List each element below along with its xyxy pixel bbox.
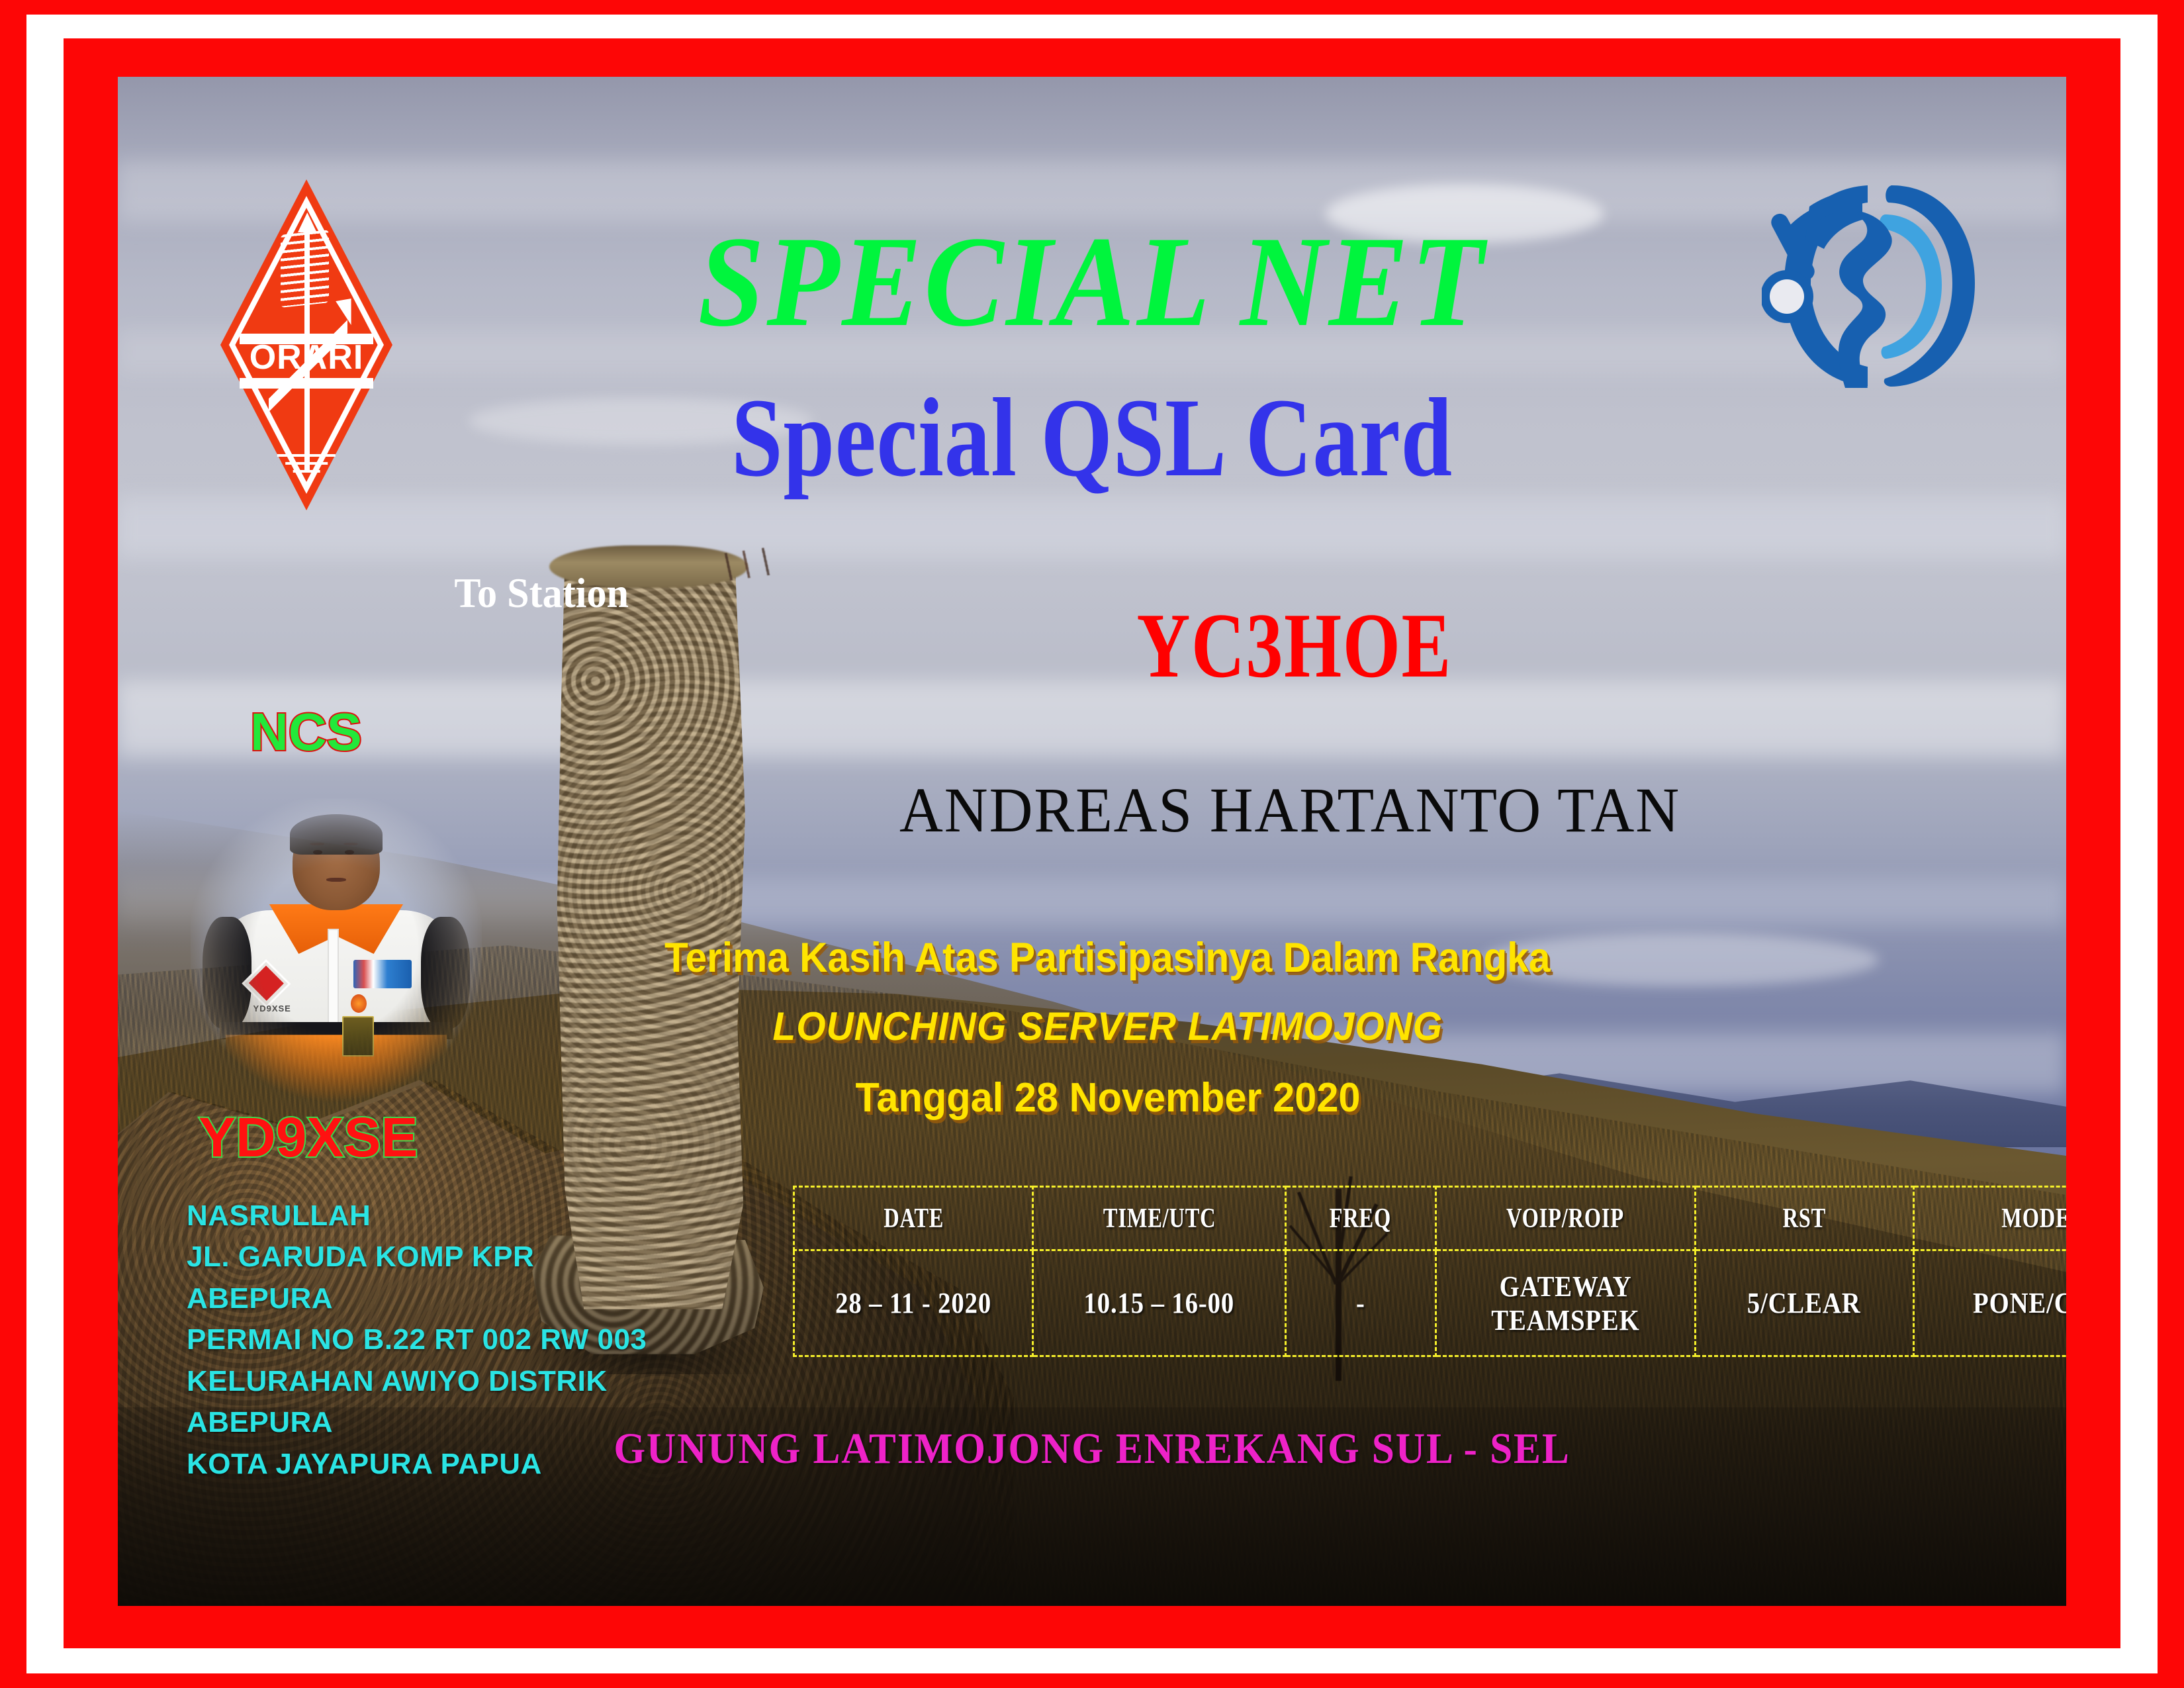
ncs-role-label: NCS	[250, 706, 362, 759]
background-photograph: ORARI	[118, 77, 2066, 1606]
qso-log-table: DATE TIME/UTC FREQ VOIP/ROIP RST MODE 28…	[793, 1186, 2066, 1357]
portrait-hair	[290, 814, 383, 855]
portrait-chest-logo	[353, 960, 412, 988]
portrait-id-badge	[342, 1016, 374, 1056]
ncs-operator-photo: YD9XSE	[191, 798, 482, 1109]
header-freq: FREQ	[1293, 1187, 1428, 1250]
header-voip-roip: VOIP/ROIP	[1449, 1187, 1682, 1250]
cell-freq: -	[1285, 1250, 1435, 1356]
portrait-mouth	[326, 878, 347, 882]
inner-red-frame: ORARI	[64, 38, 2120, 1648]
portrait-sleeve-right	[421, 917, 471, 1029]
mountain-location-label: GUNUNG LATIMOJONG ENREKANG SUL - SEL	[186, 1427, 1998, 1471]
header-date: DATE	[806, 1187, 1021, 1250]
header-mode: MODE	[1926, 1187, 2066, 1250]
cell-date: 28 – 11 - 2020	[794, 1250, 1033, 1356]
address-line: ABEPURA	[187, 1278, 756, 1319]
operator-name: ANDREAS HARTANTO TAN	[899, 778, 1680, 842]
table-row: 28 – 11 - 2020 10.15 – 16-00 - GATEWAY T…	[794, 1250, 2067, 1356]
portrait-eye	[313, 850, 322, 855]
cell-voip-roip: GATEWAY TEAMSPEK	[1435, 1250, 1695, 1356]
cell-time-utc: 10.15 – 16-00	[1033, 1250, 1286, 1356]
white-frame-gap: ORARI	[26, 15, 2158, 1673]
portrait-eye	[345, 850, 354, 855]
header-time-utc: TIME/UTC	[1046, 1187, 1273, 1250]
portrait-placket	[328, 929, 340, 1035]
recipient-callsign: YC3HOE	[1137, 600, 1452, 692]
qsl-card: ORARI	[0, 0, 2184, 1688]
title-special-qsl-card: Special QSL Card	[293, 381, 1891, 494]
header-rst: RST	[1706, 1187, 1903, 1250]
address-line: KELURAHAN AWIYO DISTRIK	[187, 1361, 756, 1402]
to-station-label: To Station	[454, 572, 629, 614]
cell-rst: 5/CLEAR	[1695, 1250, 1913, 1356]
table-header-row: DATE TIME/UTC FREQ VOIP/ROIP RST MODE	[794, 1187, 2067, 1250]
address-line: PERMAI NO B.22 RT 002 RW 003	[187, 1319, 756, 1360]
address-line: NASRULLAH	[187, 1196, 756, 1237]
address-line: JL. GARUDA KOMP KPR	[187, 1237, 756, 1278]
ncs-callsign-label: YD9XSE	[199, 1109, 418, 1165]
portrait-shirt-callsign: YD9XSE	[237, 1004, 307, 1013]
cell-mode: PONE/CW	[1913, 1250, 2066, 1356]
title-special-net: SPECIAL NET	[196, 217, 1988, 347]
